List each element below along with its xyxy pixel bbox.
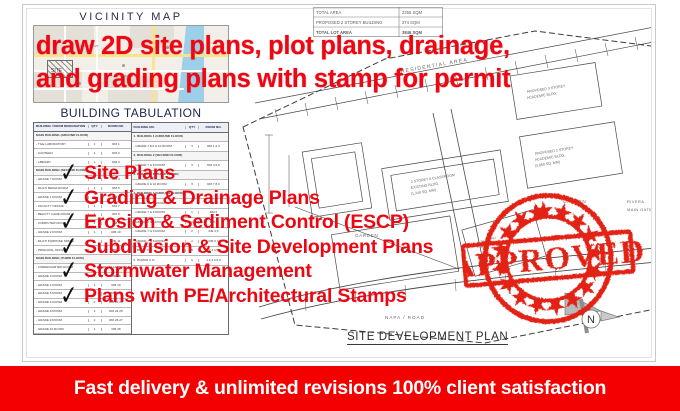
checklist-item-label: Grading & Drainage Plans bbox=[84, 187, 320, 210]
tabulation-group-label: 1. BUILDING 1 (GROUND FLOOR) bbox=[132, 135, 229, 138]
tabulation-cell: - TILE LABORATORY bbox=[34, 143, 88, 146]
tabulation-cell: RM 1 bbox=[101, 143, 131, 146]
tabulation-cell: 1 bbox=[88, 328, 101, 331]
checklist-item-label: Erosion & Sediment Control (ESCP) bbox=[84, 211, 409, 234]
tabulation-header-row: BUILDING / ROOM DESIGNATIONQTYROOM NO. bbox=[34, 123, 131, 132]
tabulation-cell: RM 1,2,3 bbox=[198, 145, 228, 148]
tabulation-row: - GRADE 9 ROOM2RM 26,27 bbox=[34, 317, 131, 326]
bottom-banner: Fast delivery & unlimited revisions 100%… bbox=[0, 366, 680, 411]
svg-text:274 SQM: 274 SQM bbox=[402, 20, 420, 25]
svg-text:PROPOSED 2 STOREY BUILDING: PROPOSED 2 STOREY BUILDING bbox=[316, 20, 382, 25]
tabulation-cell: BUILDING / ROOM DESIGNATION bbox=[34, 125, 88, 128]
tabulation-cell: ROOM NO. bbox=[198, 126, 228, 129]
checklist-item: ✓Plans with PE/Architectural Stamps bbox=[58, 285, 658, 310]
svg-text:NAPA / ROAD: NAPA / ROAD bbox=[385, 315, 425, 320]
checklist-item-label: Subdivision & Site Development Plans bbox=[84, 236, 433, 259]
tabulation-cell: ROOM NO. bbox=[101, 125, 131, 128]
tabulation-group-row: MAIN BUILDING (GROUND FLOOR) bbox=[34, 132, 131, 141]
tabulation-cell: QTY bbox=[88, 125, 101, 128]
building-tabulation-title: BUILDING TABULATION bbox=[33, 103, 229, 123]
checklist-item-label: Plans with PE/Architectural Stamps bbox=[84, 285, 407, 308]
tabulation-cell: RM 28 bbox=[101, 328, 131, 331]
tabulation-group-row: 2. BUILDING 2 (SECOND FLOOR) bbox=[132, 152, 229, 162]
checklist-item: ✓Subdivision & Site Development Plans bbox=[58, 236, 658, 261]
checklist-item: ✓Grading & Drainage Plans bbox=[58, 187, 658, 212]
tabulation-row: - GRADE 10 ROOM1RM 28 bbox=[34, 325, 131, 334]
service-checklist: ✓Site Plans✓Grading & Drainage Plans✓Ero… bbox=[58, 162, 658, 310]
tabulation-row: - CANTEEN1RM 2 bbox=[34, 149, 131, 158]
tabulation-cell: - GRADE 10 ROOM bbox=[34, 328, 88, 331]
tabulation-cell: BUILDING NO. bbox=[132, 126, 186, 129]
tabulation-row: - GRADE 7,8,9 & 10 ROOM3RM 1,2,3 bbox=[132, 142, 229, 152]
tabulation-group-label: MAIN BUILDING (GROUND FLOOR) bbox=[34, 134, 131, 137]
headline: draw 2D site plans, plot plans, drainage… bbox=[36, 30, 656, 96]
checklist-item: ✓Site Plans bbox=[58, 162, 658, 187]
tabulation-cell: 3 bbox=[185, 145, 198, 148]
thumbnail-canvas: VICINITY MAP SITE Central Ave bbox=[0, 0, 680, 411]
tabulation-cell: RM 24,25 bbox=[101, 310, 131, 313]
tabulation-row: - TILE LABORATORY1RM 1 bbox=[34, 141, 131, 150]
headline-line-2: and grading plans with stamp for permit bbox=[36, 63, 656, 96]
tabulation-cell: RM 26,27 bbox=[101, 319, 131, 322]
checklist-item-label: Stormwater Management bbox=[84, 260, 312, 283]
tabulation-cell: - CANTEEN bbox=[34, 152, 88, 155]
tabulation-group-row: 1. BUILDING 1 (GROUND FLOOR) bbox=[132, 133, 229, 143]
plan-title: SITE DEVELOPMENT PLAN bbox=[347, 331, 508, 345]
tabulation-header-row: BUILDING NO.QTYROOM NO. bbox=[132, 123, 229, 133]
tabulation-cell: QTY bbox=[185, 126, 198, 129]
tabulation-cell: - GRADE 7,8,9 & 10 ROOM bbox=[132, 145, 186, 148]
banner-text: Fast delivery & unlimited revisions 100%… bbox=[74, 377, 606, 400]
svg-text:N: N bbox=[587, 314, 595, 326]
tabulation-cell: 1 bbox=[88, 152, 101, 155]
vicinity-map-title: VICINITY MAP bbox=[33, 9, 229, 25]
svg-text:TOTAL AREA: TOTAL AREA bbox=[316, 10, 341, 15]
tabulation-cell: 2 bbox=[88, 310, 101, 313]
checklist-item: ✓Stormwater Management bbox=[58, 260, 658, 285]
tabulation-cell: 2 bbox=[88, 319, 101, 322]
tabulation-cell: - GRADE 9 ROOM bbox=[34, 319, 88, 322]
check-icon: ✓ bbox=[59, 282, 78, 307]
checklist-item-label: Site Plans bbox=[84, 162, 175, 185]
tabulation-cell: RM 2 bbox=[101, 152, 131, 155]
headline-line-1: draw 2D site plans, plot plans, drainage… bbox=[36, 30, 656, 63]
tabulation-cell: 1 bbox=[88, 143, 101, 146]
svg-text:2255 SQM: 2255 SQM bbox=[402, 10, 423, 15]
checklist-item: ✓Erosion & Sediment Control (ESCP) bbox=[58, 211, 658, 236]
tabulation-group-label: 2. BUILDING 2 (SECOND FLOOR) bbox=[132, 154, 229, 157]
